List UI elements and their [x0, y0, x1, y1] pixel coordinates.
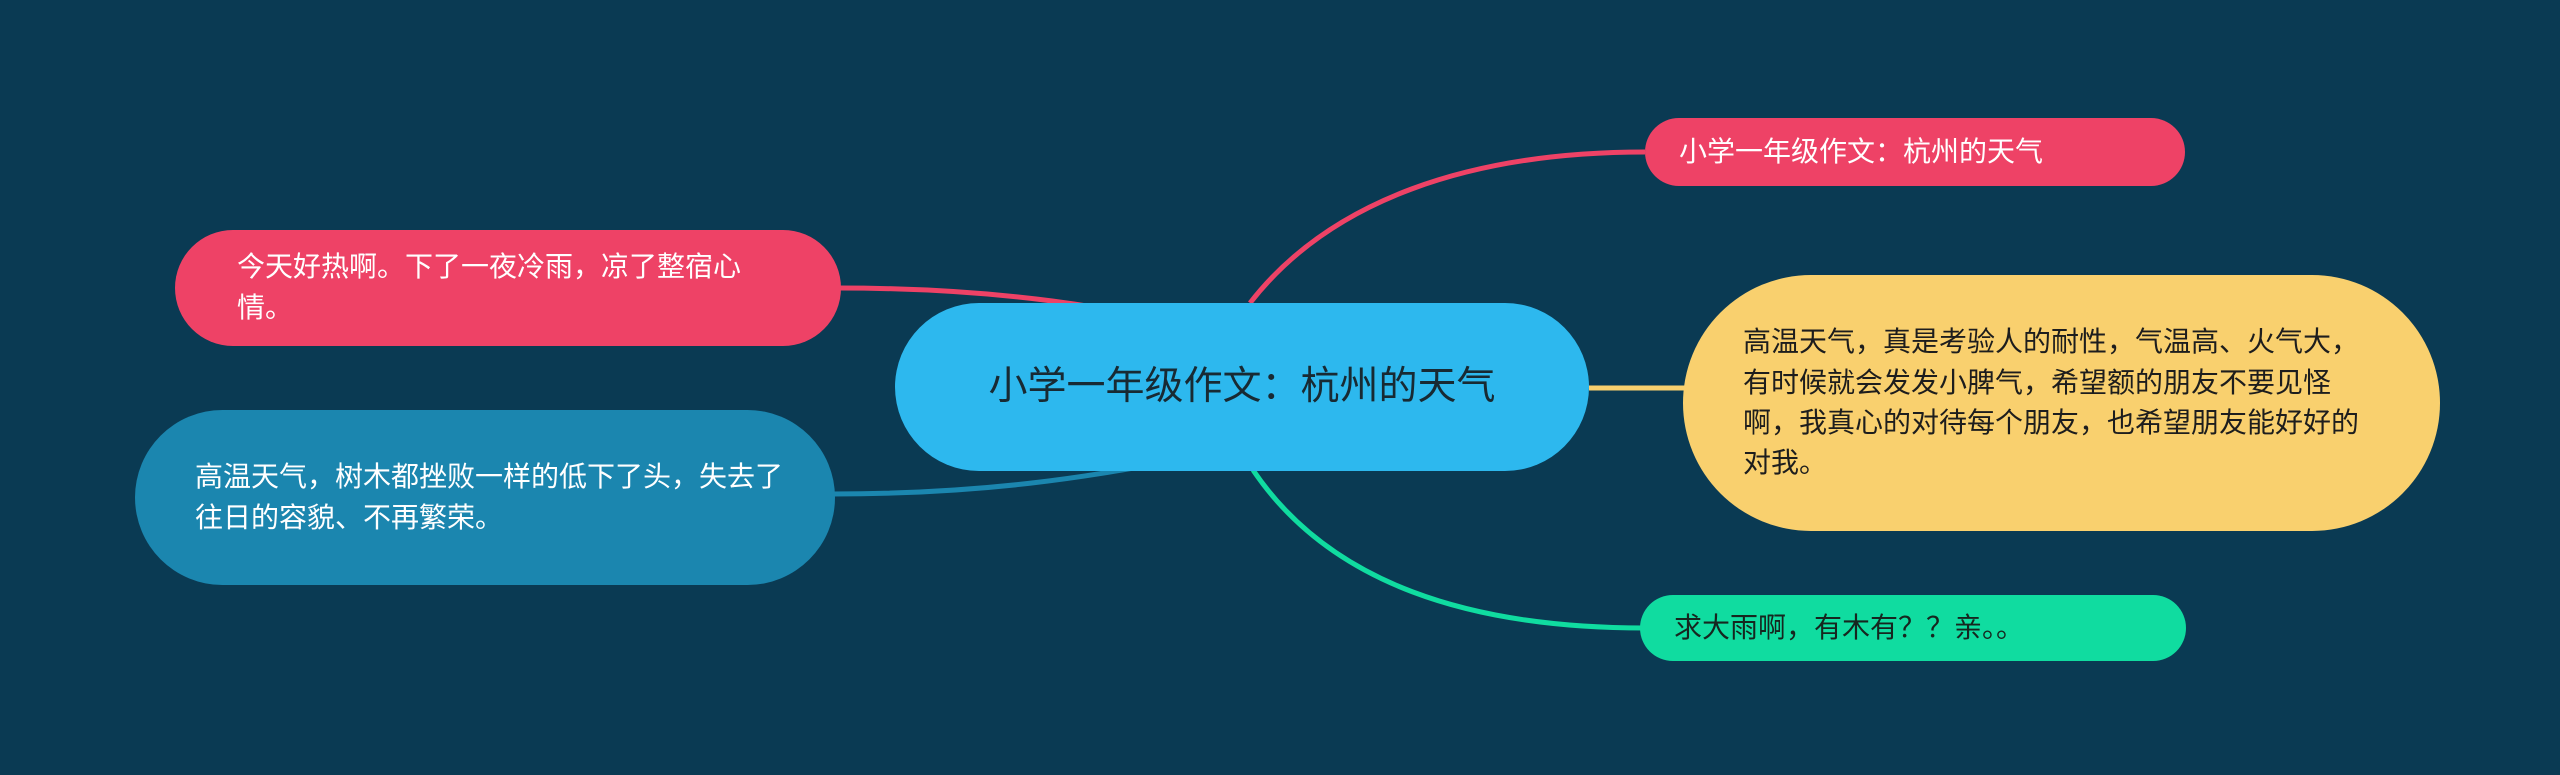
mindmap-branch-yellow[interactable]: 高温天气，真是考验人的耐性，气温高、火气大，有时候就会发发小脾气，希望额的朋友不… — [1683, 275, 2440, 531]
mindmap-branch-green-label: 求大雨啊，有木有？？亲。。 — [1640, 608, 2186, 648]
mindmap-branch-green[interactable]: 求大雨啊，有木有？？亲。。 — [1640, 595, 2186, 661]
mindmap-canvas: 小学一年级作文：杭州的天气 小学一年级作文：杭州的天气 高温天气，真是考验人的耐… — [0, 0, 2560, 775]
mindmap-branch-left-blue-label: 高温天气，树木都挫败一样的低下了头，失去了往日的容貌、不再繁荣。 — [135, 457, 835, 539]
mindmap-branch-yellow-label: 高温天气，真是考验人的耐性，气温高、火气大，有时候就会发发小脾气，希望额的朋友不… — [1683, 322, 2440, 483]
mindmap-branch-title-label: 小学一年级作文：杭州的天气 — [1645, 132, 2185, 172]
mindmap-root-node[interactable]: 小学一年级作文：杭州的天气 — [895, 303, 1589, 471]
mindmap-root-node-label: 小学一年级作文：杭州的天气 — [895, 360, 1589, 414]
mindmap-branch-left-blue[interactable]: 高温天气，树木都挫败一样的低下了头，失去了往日的容貌、不再繁荣。 — [135, 410, 835, 585]
mindmap-branch-left-pink[interactable]: 今天好热啊。下了一夜冷雨，凉了整宿心情。 — [175, 230, 841, 346]
connector-root-to-title — [1250, 152, 1645, 303]
mindmap-branch-title[interactable]: 小学一年级作文：杭州的天气 — [1645, 118, 2185, 186]
mindmap-branch-left-pink-label: 今天好热啊。下了一夜冷雨，凉了整宿心情。 — [175, 247, 841, 329]
connector-root-to-green — [1253, 470, 1645, 628]
